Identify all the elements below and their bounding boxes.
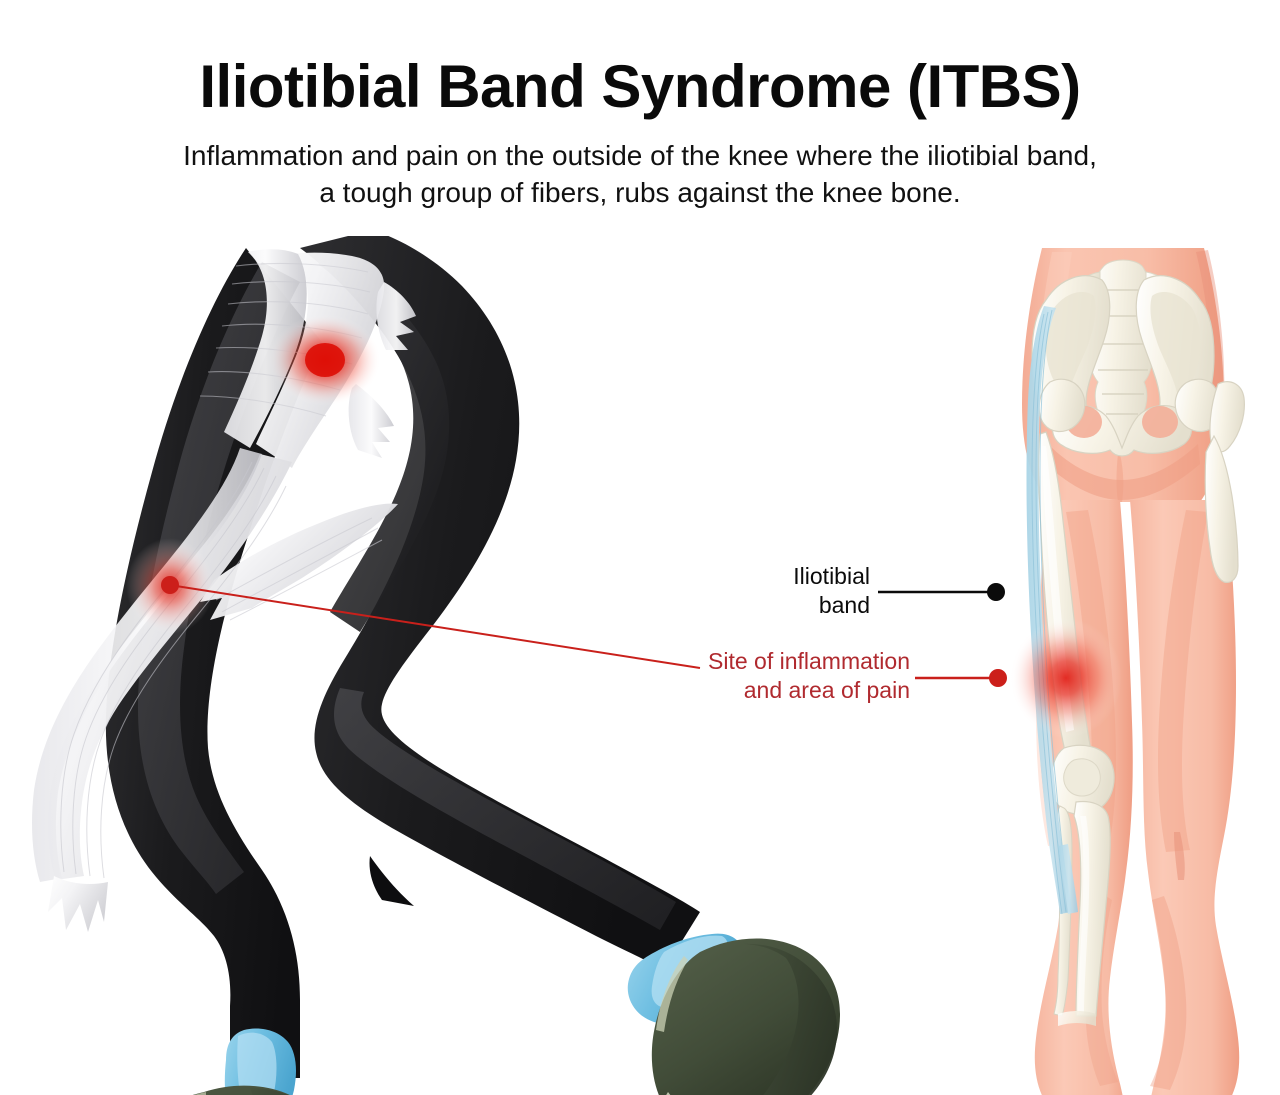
bone-femur-head-left <box>1039 379 1085 431</box>
callout-inflammation-line-1: Site of inflammation <box>560 647 910 676</box>
callout-iliotibial-band-line-2: band <box>620 591 870 620</box>
illustration-page: Iliotibial Band Syndrome (ITBS) Inflamma… <box>0 0 1280 1095</box>
bone-obturator-foramen-right <box>1142 406 1178 438</box>
callout-iliotibial-band: Iliotibial band <box>620 562 870 621</box>
anatomy-inflammation-glow <box>1010 618 1122 738</box>
page-subtitle: Inflammation and pain on the outside of … <box>0 117 1280 211</box>
header: Iliotibial Band Syndrome (ITBS) Inflamma… <box>0 0 1280 212</box>
callout-inflammation: Site of inflammation and area of pain <box>560 647 910 706</box>
pain-marker-dot-left <box>161 576 179 594</box>
runner-knee-notch <box>370 856 415 906</box>
anatomy-figure <box>878 248 1280 1095</box>
subtitle-line-2: a tough group of fibers, rubs against th… <box>0 174 1280 211</box>
callout-iliotibial-band-line-1: Iliotibial <box>620 562 870 591</box>
band-marker-dot <box>987 583 1005 601</box>
subtitle-line-1: Inflammation and pain on the outside of … <box>0 137 1280 174</box>
runner-hotspot-thigh-core <box>305 343 345 377</box>
bone-patella-left <box>1064 759 1101 796</box>
pain-marker-dot-right <box>989 669 1007 687</box>
page-title: Iliotibial Band Syndrome (ITBS) <box>0 0 1280 117</box>
callout-inflammation-line-2: and area of pain <box>560 676 910 705</box>
